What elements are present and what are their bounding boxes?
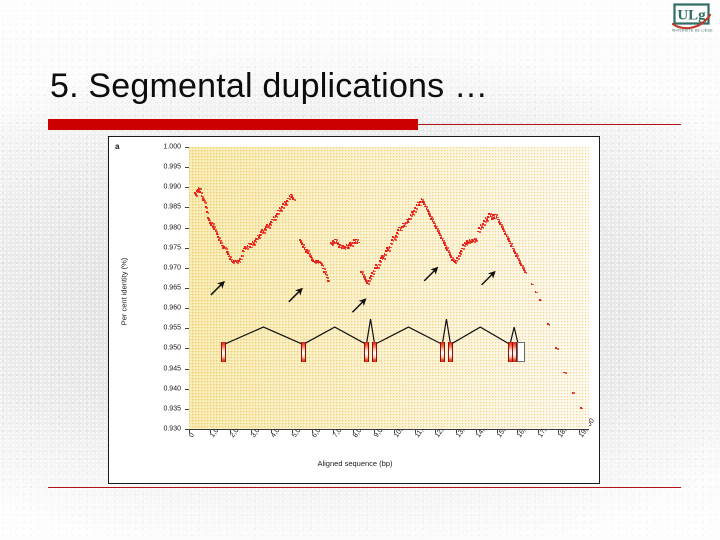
annotation-arrow — [352, 299, 365, 312]
footer-rule — [48, 487, 681, 488]
title-rule-thick — [48, 119, 418, 130]
y-tick-label: 0.955 — [111, 325, 181, 332]
svg-text:UNIVERSITÉ DE LIÈGE: UNIVERSITÉ DE LIÈGE — [672, 28, 713, 33]
y-tick-label: 0.960 — [111, 305, 181, 312]
y-tick-label: 1.000 — [111, 144, 181, 151]
y-tick-label: 0.945 — [111, 365, 181, 372]
plot-area[interactable] — [189, 147, 589, 429]
y-tick-label: 0.970 — [111, 264, 181, 271]
y-tick-label: 0.995 — [111, 164, 181, 171]
x-axis-label: Aligned sequence (bp) — [109, 459, 601, 468]
y-tick-label: 0.935 — [111, 405, 181, 412]
annotation-arrows-layer — [189, 147, 589, 429]
ulg-logo-graphic: ULg UNIVERSITÉ DE LIÈGE — [672, 3, 714, 35]
annotation-arrow — [289, 289, 302, 302]
y-tick-label: 0.950 — [111, 345, 181, 352]
y-tick-label: 0.990 — [111, 184, 181, 191]
y-tick-label: 0.940 — [111, 385, 181, 392]
x-axis-line — [189, 429, 589, 430]
annotation-arrow — [424, 268, 437, 281]
y-tick-label: 0.985 — [111, 204, 181, 211]
slide-canvas: ULg UNIVERSITÉ DE LIÈGE 5. Segmental dup… — [0, 0, 720, 540]
svg-text:ULg: ULg — [677, 8, 706, 24]
figure-panel[interactable]: a Per cent identity (%) Aligned sequence… — [108, 136, 600, 484]
y-tick-label: 0.980 — [111, 224, 181, 231]
y-tick-label: 0.965 — [111, 285, 181, 292]
ulg-logo[interactable]: ULg UNIVERSITÉ DE LIÈGE — [672, 3, 714, 35]
x-tick-label: 0 — [188, 432, 196, 439]
y-tick-label: 0.930 — [111, 426, 181, 433]
annotation-arrow — [211, 282, 224, 295]
annotation-arrow — [482, 272, 495, 285]
page-title: 5. Segmental duplications … — [50, 66, 690, 106]
y-tick-label: 0.975 — [111, 244, 181, 251]
